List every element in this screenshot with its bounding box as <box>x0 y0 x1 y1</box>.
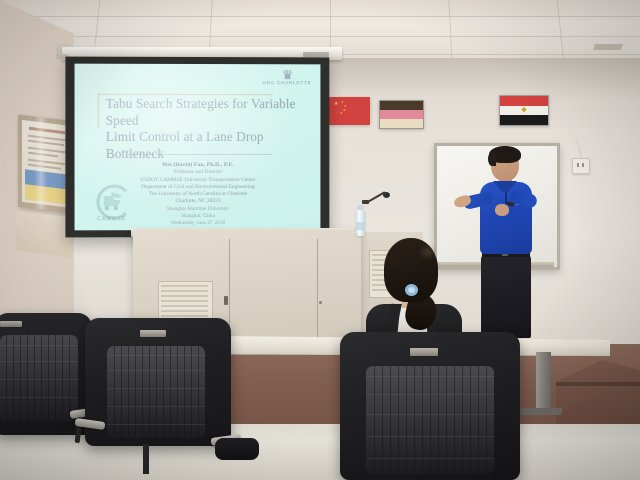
cabinet-door-seam-2 <box>317 239 318 338</box>
projection-screen[interactable]: ♛ UNC CHARLOTTE Tabu Search Strategies f… <box>65 57 329 238</box>
table-leg <box>536 352 551 414</box>
chair-brand-label <box>410 348 438 356</box>
slide-author-block: Wei (David) Fan, Ph.D., P.E. Professor a… <box>105 162 291 206</box>
author-location: Charlotte, NC 28223 <box>105 198 291 206</box>
slide-title: Tabu Search Strategies for Variable Spee… <box>106 96 311 162</box>
presenter-right-hand <box>495 204 509 216</box>
wall-panel-lower <box>16 211 72 258</box>
china-flag: ★ ★ ★ ★ ★ <box>329 97 370 125</box>
wall-outlet[interactable] <box>572 158 590 174</box>
cabinet-lock-icon[interactable] <box>224 296 228 305</box>
presenter-trousers <box>481 255 531 338</box>
cabinet-knob-icon[interactable] <box>319 301 322 304</box>
slide-title-line1: Tabu Search Strategies for Variable Spee… <box>106 96 311 129</box>
egypt-flag: ◆ <box>499 95 549 126</box>
presentation-slide: ♛ UNC CHARLOTTE Tabu Search Strategies f… <box>75 64 321 231</box>
bottle-label <box>356 222 365 230</box>
slide-title-line2: Limit Control at a Lane Drop Bottleneck <box>106 129 311 162</box>
cabinet-door-seam-1 <box>229 239 230 338</box>
title-rule-left <box>98 94 99 128</box>
ceiling-bracket-icon <box>593 44 623 50</box>
crown-emblem-icon: ♛ <box>263 69 312 80</box>
table-foot <box>519 408 564 415</box>
chair-brand-label <box>140 330 166 337</box>
unc-charlotte-logo: ♛ UNC CHARLOTTE <box>263 69 312 85</box>
notice-glare <box>34 116 48 210</box>
lecture-hall-photo: ★ ★ ★ ★ ★ ◆ ♛ UNC CHARLOTTE <box>0 0 640 480</box>
roller-brand-label <box>303 52 329 57</box>
germany-flag <box>379 100 424 129</box>
cabinet-vent-left <box>158 281 213 323</box>
chair-brand-label <box>0 321 22 327</box>
presenter <box>462 148 558 338</box>
microphone-head-icon <box>383 192 390 198</box>
eagle-emblem-icon: ◆ <box>521 107 526 114</box>
slide-divider <box>127 154 273 155</box>
cammse-logo-text: CAMMSE <box>89 216 135 222</box>
unc-logo-text: UNC CHARLOTTE <box>263 80 312 85</box>
